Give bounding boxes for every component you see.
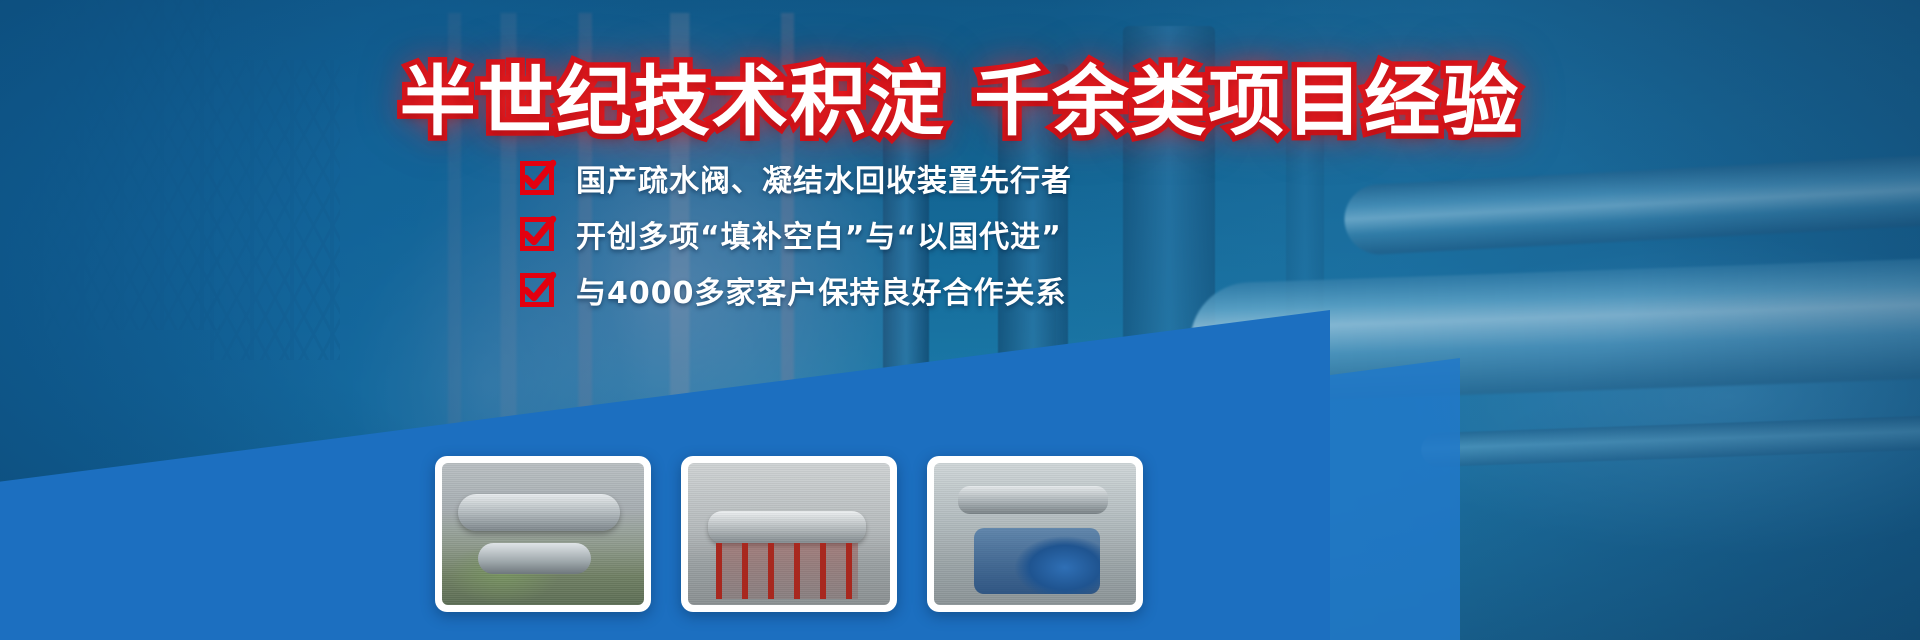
list-item-label: 与4000多家客户保持良好合作关系 <box>576 268 1067 312</box>
list-item: 国产疏水阀、凝结水回收装置先行者 <box>520 152 1140 204</box>
checkbox-checked-icon <box>520 217 554 251</box>
list-item-label: 国产疏水阀、凝结水回收装置先行者 <box>576 156 1072 200</box>
list-item-label: 开创多项“填补空白”与“以国代进” <box>576 212 1062 256</box>
product-photo-gallery <box>435 456 1143 612</box>
product-photo-2[interactable] <box>681 456 897 612</box>
promo-banner: 半世纪技术积淀 千余类项目经验 国产疏水阀、凝结水回收装置先行者 开创多项“填补… <box>0 0 1920 640</box>
page-title: 半世纪技术积淀 千余类项目经验 <box>0 40 1920 150</box>
product-photo-1[interactable] <box>435 456 651 612</box>
list-item: 与4000多家客户保持良好合作关系 <box>520 264 1140 316</box>
feature-list: 国产疏水阀、凝结水回收装置先行者 开创多项“填补空白”与“以国代进” 与4000… <box>520 152 1140 320</box>
product-photo-3[interactable] <box>927 456 1143 612</box>
checkbox-checked-icon <box>520 161 554 195</box>
checkbox-checked-icon <box>520 273 554 307</box>
list-item: 开创多项“填补空白”与“以国代进” <box>520 208 1140 260</box>
